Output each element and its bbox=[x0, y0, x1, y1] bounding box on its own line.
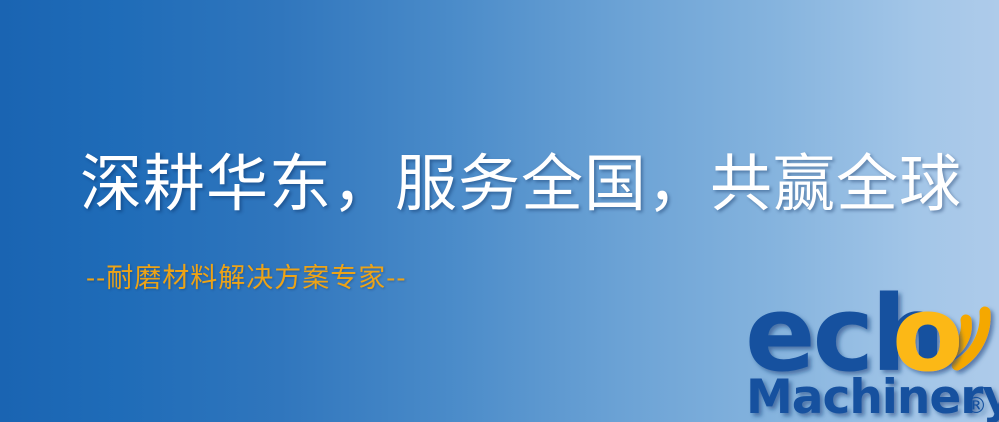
logo-graphic: ech o Machinery ® bbox=[745, 296, 999, 422]
banner-subtitle: --耐磨材料解决方案专家-- bbox=[86, 263, 407, 295]
promo-banner: 深耕华东，服务全国，共赢全球 --耐磨材料解决方案专家-- ech o Mach… bbox=[0, 0, 999, 422]
echo-machinery-logo: ech o Machinery ® bbox=[745, 296, 999, 422]
logo-tagline: Machinery bbox=[746, 370, 999, 422]
banner-headline: 深耕华东，服务全国，共赢全球 bbox=[80, 148, 962, 219]
logo-registered-mark: ® bbox=[965, 394, 987, 419]
